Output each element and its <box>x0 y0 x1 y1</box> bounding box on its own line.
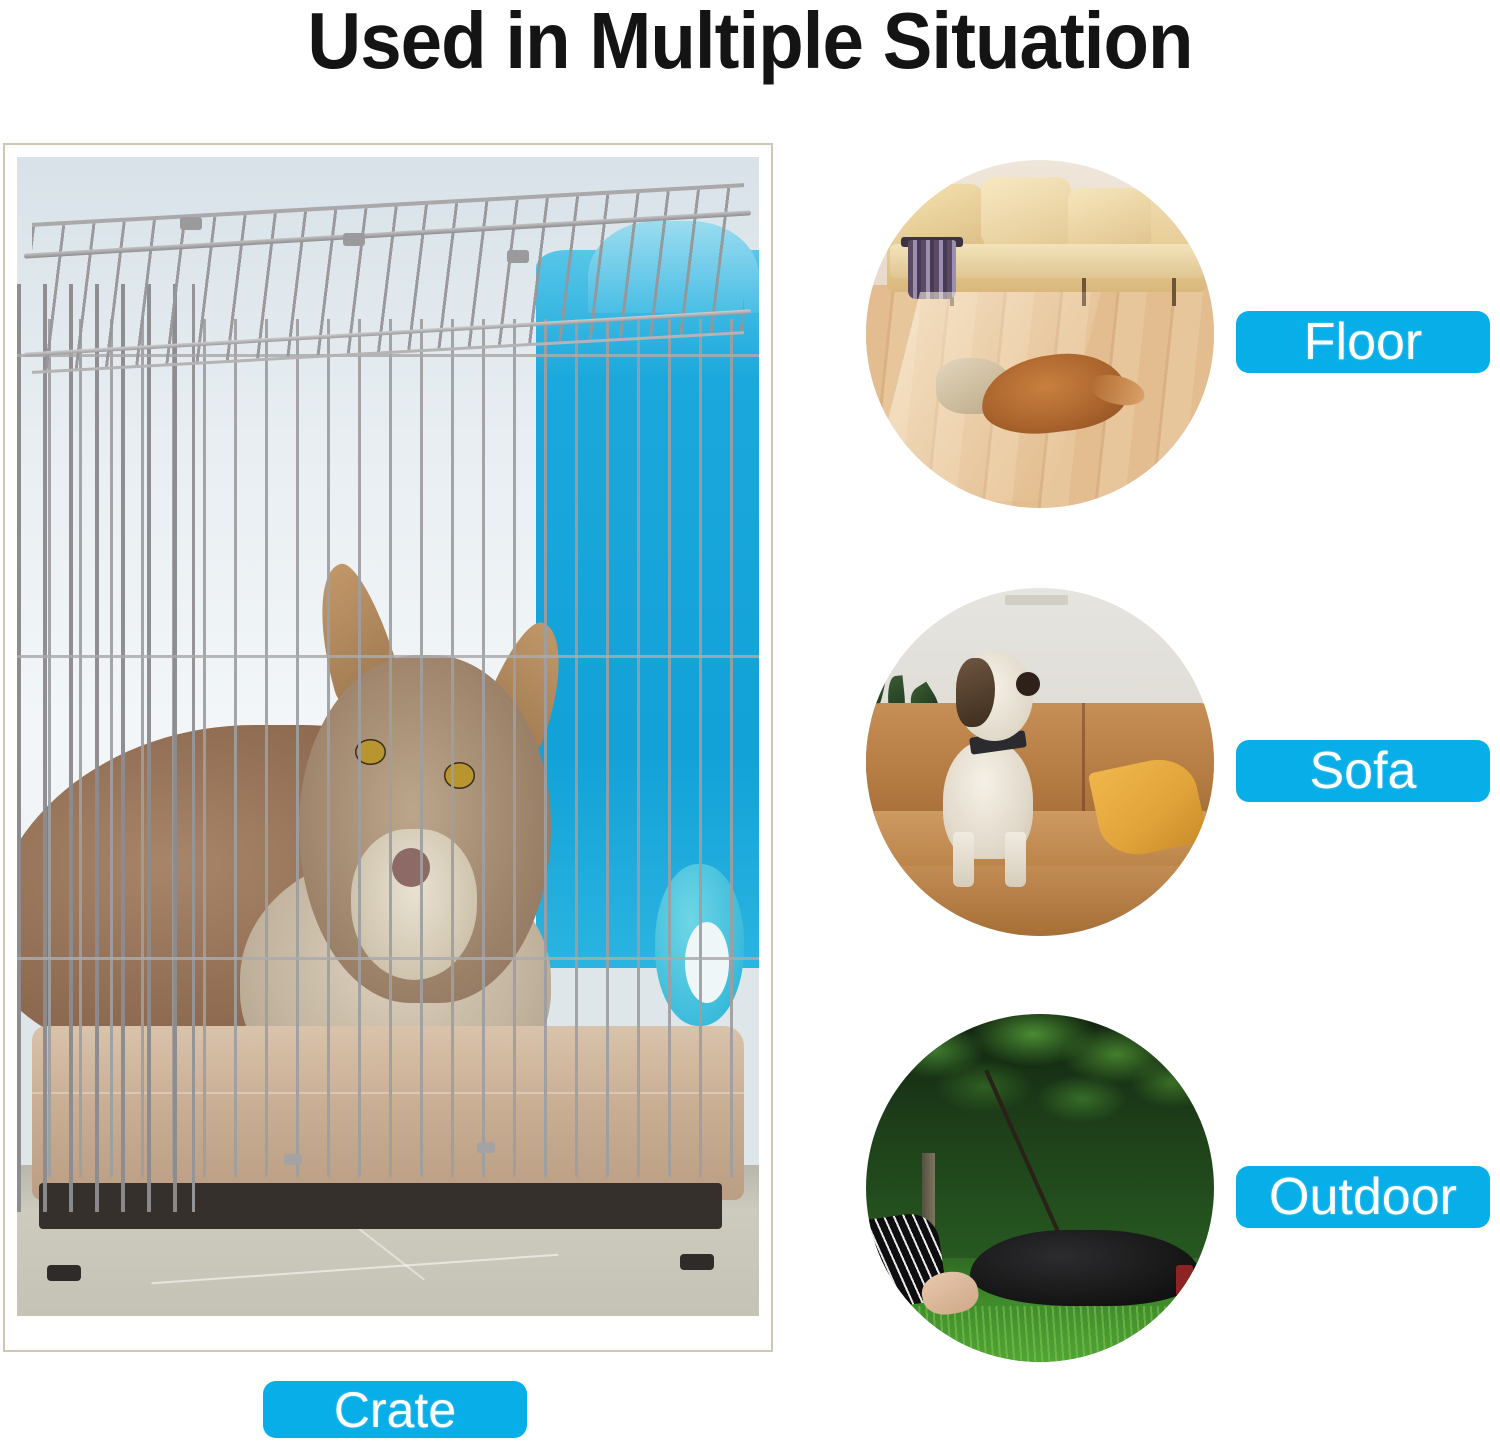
crate-top-clip-2 <box>343 233 365 246</box>
outdoor-scene-dog-collar <box>1176 1265 1193 1296</box>
sofa-scene-dog-leg-1 <box>953 832 974 888</box>
outdoor-scene-dog <box>970 1230 1200 1307</box>
sofa-scene-seat-front <box>866 866 1214 936</box>
sofa-scene-dog-leg-2 <box>1005 832 1026 888</box>
crate-bottom-clip-1 <box>284 1154 302 1165</box>
crate-wire-hbar-2 <box>17 655 759 658</box>
outdoor-scene-grass-blades <box>866 1306 1214 1362</box>
sofa-scene-back-seam <box>1082 703 1085 821</box>
sofa-scene-vent <box>1005 595 1068 605</box>
floor-scene-cushion-2 <box>981 177 1071 247</box>
label-crate: Crate <box>263 1381 527 1438</box>
crate-photo-frame <box>3 143 773 1352</box>
label-outdoor: Outdoor <box>1236 1166 1490 1228</box>
floor-scene-side-table <box>908 240 957 299</box>
label-sofa: Sofa <box>1236 740 1490 802</box>
crate-foot-left <box>47 1265 81 1281</box>
crate-photo <box>17 157 759 1316</box>
crate-bottom-rail-2 <box>24 1206 751 1212</box>
crate-bottom-clip-2 <box>477 1142 495 1153</box>
crate-wire-hbar-3 <box>17 957 759 960</box>
crate-bottom-rail-1 <box>24 1131 751 1137</box>
label-floor: Floor <box>1236 311 1490 373</box>
scene-image-sofa <box>866 588 1214 936</box>
crate-foot-right <box>680 1254 714 1270</box>
crate-top-clip-3 <box>507 250 529 263</box>
page-title: Used in Multiple Situation <box>53 0 1448 86</box>
scene-image-outdoor <box>866 1014 1214 1362</box>
scene-image-floor <box>866 160 1214 508</box>
floor-scene-sofa-leg-3 <box>1172 278 1176 306</box>
floor-scene-cushion-3 <box>1068 188 1152 251</box>
crate-top-clip-1 <box>180 217 202 230</box>
sofa-scene-dog-nose <box>1016 672 1040 696</box>
crate-wire-left-door <box>17 284 195 1211</box>
